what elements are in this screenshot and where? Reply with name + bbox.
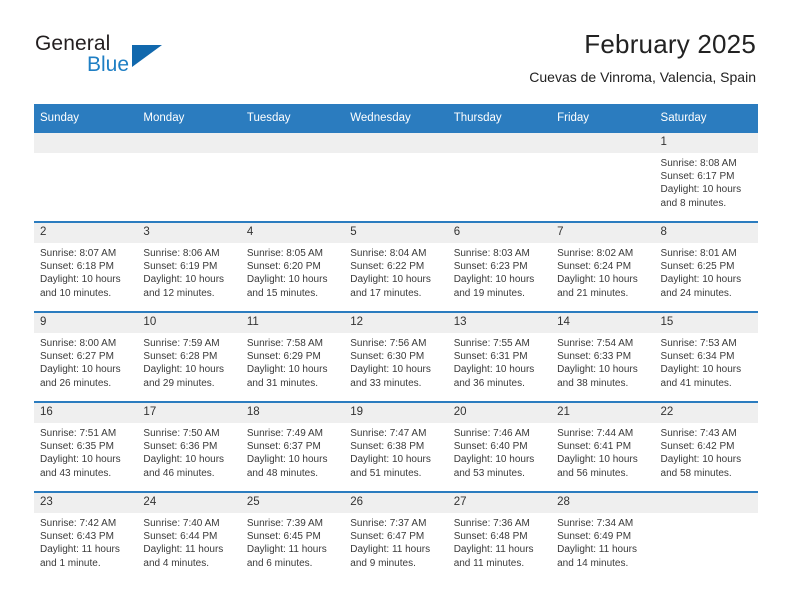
day-number [137,133,240,153]
day-number: 10 [137,313,240,333]
calendar-day-cell[interactable]: 3Sunrise: 8:06 AMSunset: 6:19 PMDaylight… [137,222,240,312]
page-title: February 2025 [529,28,756,60]
sunset-text: Sunset: 6:17 PM [661,170,752,183]
day-info: Sunrise: 7:47 AMSunset: 6:38 PMDaylight:… [344,423,447,480]
daylight-text: Daylight: 10 hours and 15 minutes. [247,273,338,299]
sunrise-text: Sunrise: 7:58 AM [247,337,338,350]
day-number: 24 [137,493,240,513]
weekday-header-tuesday: Tuesday [241,104,344,132]
sunrise-text: Sunrise: 7:53 AM [661,337,752,350]
sunset-text: Sunset: 6:34 PM [661,350,752,363]
day-info: Sunrise: 7:37 AMSunset: 6:47 PMDaylight:… [344,513,447,570]
sunrise-text: Sunrise: 7:40 AM [143,517,234,530]
calendar-table: Sunday Monday Tuesday Wednesday Thursday… [34,104,758,581]
weekday-header-sunday: Sunday [34,104,137,132]
sunrise-text: Sunrise: 7:55 AM [454,337,545,350]
sunrise-text: Sunrise: 8:04 AM [350,247,441,260]
day-info: Sunrise: 8:00 AMSunset: 6:27 PMDaylight:… [34,333,137,390]
sunset-text: Sunset: 6:38 PM [350,440,441,453]
sunset-text: Sunset: 6:47 PM [350,530,441,543]
sunset-text: Sunset: 6:35 PM [40,440,131,453]
sunrise-text: Sunrise: 7:39 AM [247,517,338,530]
day-number: 28 [551,493,654,513]
calendar-week-row: 2Sunrise: 8:07 AMSunset: 6:18 PMDaylight… [34,222,758,312]
day-info: Sunrise: 7:55 AMSunset: 6:31 PMDaylight:… [448,333,551,390]
day-info: Sunrise: 7:54 AMSunset: 6:33 PMDaylight:… [551,333,654,390]
sunset-text: Sunset: 6:24 PM [557,260,648,273]
weekday-header-saturday: Saturday [655,104,758,132]
calendar-day-cell[interactable]: 20Sunrise: 7:46 AMSunset: 6:40 PMDayligh… [448,402,551,492]
daylight-text: Daylight: 11 hours and 6 minutes. [247,543,338,569]
daylight-text: Daylight: 10 hours and 31 minutes. [247,363,338,389]
calendar-cell-empty [344,132,447,222]
daylight-text: Daylight: 10 hours and 46 minutes. [143,453,234,479]
day-info: Sunrise: 8:02 AMSunset: 6:24 PMDaylight:… [551,243,654,300]
sunrise-text: Sunrise: 7:37 AM [350,517,441,530]
calendar-week-row: 9Sunrise: 8:00 AMSunset: 6:27 PMDaylight… [34,312,758,402]
calendar-day-cell[interactable]: 4Sunrise: 8:05 AMSunset: 6:20 PMDaylight… [241,222,344,312]
calendar-week-row: 1Sunrise: 8:08 AMSunset: 6:17 PMDaylight… [34,132,758,222]
calendar-day-cell[interactable]: 15Sunrise: 7:53 AMSunset: 6:34 PMDayligh… [655,312,758,402]
day-number: 25 [241,493,344,513]
daylight-text: Daylight: 10 hours and 33 minutes. [350,363,441,389]
calendar-page: General Blue February 2025 Cuevas de Vin… [0,0,792,612]
calendar-week-row: 16Sunrise: 7:51 AMSunset: 6:35 PMDayligh… [34,402,758,492]
sunrise-text: Sunrise: 7:44 AM [557,427,648,440]
day-info: Sunrise: 7:44 AMSunset: 6:41 PMDaylight:… [551,423,654,480]
sunrise-text: Sunrise: 7:34 AM [557,517,648,530]
day-info: Sunrise: 7:49 AMSunset: 6:37 PMDaylight:… [241,423,344,480]
sunrise-text: Sunrise: 8:06 AM [143,247,234,260]
day-number: 4 [241,223,344,243]
calendar-day-cell[interactable]: 21Sunrise: 7:44 AMSunset: 6:41 PMDayligh… [551,402,654,492]
day-info: Sunrise: 7:53 AMSunset: 6:34 PMDaylight:… [655,333,758,390]
calendar-cell-empty [448,132,551,222]
sunset-text: Sunset: 6:49 PM [557,530,648,543]
calendar-day-cell[interactable]: 22Sunrise: 7:43 AMSunset: 6:42 PMDayligh… [655,402,758,492]
page-header: General Blue February 2025 Cuevas de Vin… [0,0,792,100]
sunrise-text: Sunrise: 7:50 AM [143,427,234,440]
day-info: Sunrise: 7:51 AMSunset: 6:35 PMDaylight:… [34,423,137,480]
calendar-day-cell[interactable]: 17Sunrise: 7:50 AMSunset: 6:36 PMDayligh… [137,402,240,492]
general-blue-logo[interactable]: General Blue [35,33,215,83]
sunrise-text: Sunrise: 7:42 AM [40,517,131,530]
sunset-text: Sunset: 6:37 PM [247,440,338,453]
weekday-header-monday: Monday [137,104,240,132]
day-info: Sunrise: 7:39 AMSunset: 6:45 PMDaylight:… [241,513,344,570]
daylight-text: Daylight: 10 hours and 29 minutes. [143,363,234,389]
sunrise-text: Sunrise: 7:51 AM [40,427,131,440]
calendar-day-cell[interactable]: 23Sunrise: 7:42 AMSunset: 6:43 PMDayligh… [34,492,137,581]
day-info: Sunrise: 8:06 AMSunset: 6:19 PMDaylight:… [137,243,240,300]
day-info: Sunrise: 7:40 AMSunset: 6:44 PMDaylight:… [137,513,240,570]
day-info: Sunrise: 7:43 AMSunset: 6:42 PMDaylight:… [655,423,758,480]
calendar-day-cell[interactable]: 6Sunrise: 8:03 AMSunset: 6:23 PMDaylight… [448,222,551,312]
calendar-day-cell[interactable]: 9Sunrise: 8:00 AMSunset: 6:27 PMDaylight… [34,312,137,402]
daylight-text: Daylight: 10 hours and 53 minutes. [454,453,545,479]
day-info: Sunrise: 8:07 AMSunset: 6:18 PMDaylight:… [34,243,137,300]
weekday-header-friday: Friday [551,104,654,132]
daylight-text: Daylight: 10 hours and 24 minutes. [661,273,752,299]
daylight-text: Daylight: 11 hours and 1 minute. [40,543,131,569]
daylight-text: Daylight: 10 hours and 43 minutes. [40,453,131,479]
sunset-text: Sunset: 6:20 PM [247,260,338,273]
calendar-day-cell[interactable]: 14Sunrise: 7:54 AMSunset: 6:33 PMDayligh… [551,312,654,402]
sunset-text: Sunset: 6:48 PM [454,530,545,543]
day-number: 13 [448,313,551,333]
calendar-cell-empty [34,132,137,222]
day-number: 27 [448,493,551,513]
day-info: Sunrise: 7:59 AMSunset: 6:28 PMDaylight:… [137,333,240,390]
daylight-text: Daylight: 10 hours and 19 minutes. [454,273,545,299]
day-info: Sunrise: 7:46 AMSunset: 6:40 PMDaylight:… [448,423,551,480]
sunset-text: Sunset: 6:40 PM [454,440,545,453]
calendar-day-cell[interactable]: 26Sunrise: 7:37 AMSunset: 6:47 PMDayligh… [344,492,447,581]
day-number: 8 [655,223,758,243]
day-number: 9 [34,313,137,333]
sunrise-text: Sunrise: 7:59 AM [143,337,234,350]
calendar-header-row: Sunday Monday Tuesday Wednesday Thursday… [34,104,758,132]
calendar-day-cell[interactable]: 5Sunrise: 8:04 AMSunset: 6:22 PMDaylight… [344,222,447,312]
day-number: 19 [344,403,447,423]
day-number: 20 [448,403,551,423]
daylight-text: Daylight: 10 hours and 41 minutes. [661,363,752,389]
day-number: 14 [551,313,654,333]
calendar-day-cell[interactable]: 19Sunrise: 7:47 AMSunset: 6:38 PMDayligh… [344,402,447,492]
day-number: 12 [344,313,447,333]
calendar-day-cell[interactable]: 13Sunrise: 7:55 AMSunset: 6:31 PMDayligh… [448,312,551,402]
day-info: Sunrise: 7:50 AMSunset: 6:36 PMDaylight:… [137,423,240,480]
daylight-text: Daylight: 10 hours and 51 minutes. [350,453,441,479]
title-block: February 2025 Cuevas de Vinroma, Valenci… [529,28,756,87]
sunset-text: Sunset: 6:43 PM [40,530,131,543]
day-number: 15 [655,313,758,333]
sunset-text: Sunset: 6:33 PM [557,350,648,363]
sunrise-text: Sunrise: 8:03 AM [454,247,545,260]
daylight-text: Daylight: 10 hours and 8 minutes. [661,183,752,209]
daylight-text: Daylight: 10 hours and 38 minutes. [557,363,648,389]
calendar-cell-empty [551,132,654,222]
logo-text-general: General [35,33,215,55]
daylight-text: Daylight: 10 hours and 48 minutes. [247,453,338,479]
sunrise-text: Sunrise: 8:00 AM [40,337,131,350]
sunset-text: Sunset: 6:44 PM [143,530,234,543]
sunset-text: Sunset: 6:30 PM [350,350,441,363]
sunrise-text: Sunrise: 7:47 AM [350,427,441,440]
daylight-text: Daylight: 10 hours and 12 minutes. [143,273,234,299]
sunrise-text: Sunrise: 8:01 AM [661,247,752,260]
daylight-text: Daylight: 10 hours and 36 minutes. [454,363,545,389]
weekday-header-wednesday: Wednesday [344,104,447,132]
calendar-week-row: 23Sunrise: 7:42 AMSunset: 6:43 PMDayligh… [34,492,758,581]
sunrise-text: Sunrise: 7:46 AM [454,427,545,440]
day-info: Sunrise: 8:03 AMSunset: 6:23 PMDaylight:… [448,243,551,300]
day-number [448,133,551,153]
daylight-text: Daylight: 11 hours and 9 minutes. [350,543,441,569]
calendar-day-cell[interactable]: 18Sunrise: 7:49 AMSunset: 6:37 PMDayligh… [241,402,344,492]
day-number: 11 [241,313,344,333]
calendar-day-cell[interactable]: 11Sunrise: 7:58 AMSunset: 6:29 PMDayligh… [241,312,344,402]
calendar-day-cell[interactable]: 24Sunrise: 7:40 AMSunset: 6:44 PMDayligh… [137,492,240,581]
day-number [655,493,758,513]
calendar-day-cell[interactable]: 10Sunrise: 7:59 AMSunset: 6:28 PMDayligh… [137,312,240,402]
day-number: 5 [344,223,447,243]
day-info: Sunrise: 7:58 AMSunset: 6:29 PMDaylight:… [241,333,344,390]
calendar-day-cell[interactable]: 12Sunrise: 7:56 AMSunset: 6:30 PMDayligh… [344,312,447,402]
sunset-text: Sunset: 6:45 PM [247,530,338,543]
daylight-text: Daylight: 11 hours and 14 minutes. [557,543,648,569]
calendar-day-cell[interactable]: 25Sunrise: 7:39 AMSunset: 6:45 PMDayligh… [241,492,344,581]
sunrise-text: Sunrise: 7:36 AM [454,517,545,530]
day-number: 21 [551,403,654,423]
day-number: 26 [344,493,447,513]
sunset-text: Sunset: 6:22 PM [350,260,441,273]
sunset-text: Sunset: 6:31 PM [454,350,545,363]
triangle-flag-icon [132,45,162,67]
daylight-text: Daylight: 11 hours and 4 minutes. [143,543,234,569]
sunset-text: Sunset: 6:42 PM [661,440,752,453]
day-number: 2 [34,223,137,243]
day-info: Sunrise: 7:36 AMSunset: 6:48 PMDaylight:… [448,513,551,570]
day-info: Sunrise: 7:42 AMSunset: 6:43 PMDaylight:… [34,513,137,570]
day-info: Sunrise: 7:34 AMSunset: 6:49 PMDaylight:… [551,513,654,570]
day-number [34,133,137,153]
calendar-day-cell[interactable]: 27Sunrise: 7:36 AMSunset: 6:48 PMDayligh… [448,492,551,581]
day-number: 3 [137,223,240,243]
day-number: 17 [137,403,240,423]
sunset-text: Sunset: 6:19 PM [143,260,234,273]
sunset-text: Sunset: 6:27 PM [40,350,131,363]
sunset-text: Sunset: 6:36 PM [143,440,234,453]
daylight-text: Daylight: 10 hours and 56 minutes. [557,453,648,479]
day-number [241,133,344,153]
location-subtitle: Cuevas de Vinroma, Valencia, Spain [529,67,756,87]
sunset-text: Sunset: 6:29 PM [247,350,338,363]
sunrise-text: Sunrise: 7:56 AM [350,337,441,350]
sunset-text: Sunset: 6:23 PM [454,260,545,273]
day-info: Sunrise: 8:01 AMSunset: 6:25 PMDaylight:… [655,243,758,300]
sunrise-text: Sunrise: 7:54 AM [557,337,648,350]
day-info: Sunrise: 7:56 AMSunset: 6:30 PMDaylight:… [344,333,447,390]
day-number: 7 [551,223,654,243]
calendar-cell-empty [655,492,758,581]
weekday-header-thursday: Thursday [448,104,551,132]
daylight-text: Daylight: 10 hours and 26 minutes. [40,363,131,389]
day-number [344,133,447,153]
sunrise-text: Sunrise: 8:08 AM [661,157,752,170]
calendar-day-cell[interactable]: 16Sunrise: 7:51 AMSunset: 6:35 PMDayligh… [34,402,137,492]
day-info: Sunrise: 8:04 AMSunset: 6:22 PMDaylight:… [344,243,447,300]
day-number: 1 [655,133,758,153]
calendar-day-cell[interactable]: 1Sunrise: 8:08 AMSunset: 6:17 PMDaylight… [655,132,758,222]
day-info: Sunrise: 8:05 AMSunset: 6:20 PMDaylight:… [241,243,344,300]
calendar-cell-empty [241,132,344,222]
sunrise-text: Sunrise: 8:05 AM [247,247,338,260]
day-number: 18 [241,403,344,423]
sunset-text: Sunset: 6:25 PM [661,260,752,273]
day-number: 6 [448,223,551,243]
calendar-cell-empty [137,132,240,222]
day-number: 22 [655,403,758,423]
sunrise-text: Sunrise: 8:02 AM [557,247,648,260]
calendar-day-cell[interactable]: 2Sunrise: 8:07 AMSunset: 6:18 PMDaylight… [34,222,137,312]
calendar-day-cell[interactable]: 7Sunrise: 8:02 AMSunset: 6:24 PMDaylight… [551,222,654,312]
sunset-text: Sunset: 6:28 PM [143,350,234,363]
sunset-text: Sunset: 6:41 PM [557,440,648,453]
sunrise-text: Sunrise: 8:07 AM [40,247,131,260]
daylight-text: Daylight: 10 hours and 21 minutes. [557,273,648,299]
sunset-text: Sunset: 6:18 PM [40,260,131,273]
daylight-text: Daylight: 11 hours and 11 minutes. [454,543,545,569]
day-number: 16 [34,403,137,423]
day-info: Sunrise: 8:08 AMSunset: 6:17 PMDaylight:… [655,153,758,210]
sunrise-text: Sunrise: 7:43 AM [661,427,752,440]
sunrise-text: Sunrise: 7:49 AM [247,427,338,440]
day-number: 23 [34,493,137,513]
day-number [551,133,654,153]
calendar-day-cell[interactable]: 28Sunrise: 7:34 AMSunset: 6:49 PMDayligh… [551,492,654,581]
daylight-text: Daylight: 10 hours and 17 minutes. [350,273,441,299]
calendar-body: 1Sunrise: 8:08 AMSunset: 6:17 PMDaylight… [34,132,758,581]
daylight-text: Daylight: 10 hours and 58 minutes. [661,453,752,479]
daylight-text: Daylight: 10 hours and 10 minutes. [40,273,131,299]
calendar-day-cell[interactable]: 8Sunrise: 8:01 AMSunset: 6:25 PMDaylight… [655,222,758,312]
